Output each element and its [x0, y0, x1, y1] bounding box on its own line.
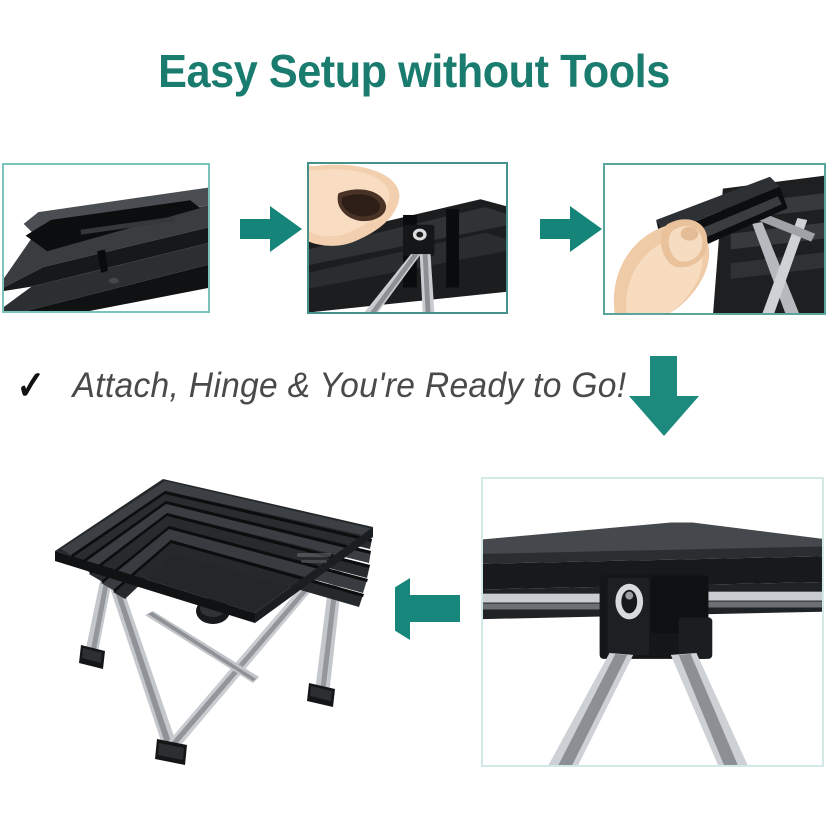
- infographic-root: Easy Setup without Tools: [0, 0, 828, 820]
- arrow-right-step1-to-step2: [240, 206, 302, 252]
- step-1-photo-panel: [2, 163, 210, 313]
- hinge-panel-image: [605, 165, 824, 314]
- attach-frame-image: [309, 164, 506, 313]
- arrow-stem: [540, 219, 574, 239]
- arrow-head: [570, 206, 602, 252]
- arrow-head: [629, 396, 699, 436]
- arrow-head: [270, 206, 302, 252]
- tagline-text: Attach, Hinge & You're Ready to Go!: [72, 366, 626, 406]
- folded-tabletop-image: [4, 165, 208, 312]
- step-3-photo-panel: [603, 163, 826, 315]
- arrow-down-step3-to-step4: [629, 356, 699, 436]
- step-2-photo-panel: [307, 162, 508, 314]
- tagline-row: ✓ Attach, Hinge & You're Ready to Go!: [14, 366, 637, 406]
- step-5-finished-table-illustration: [45, 445, 395, 775]
- arrow-stem: [404, 595, 460, 622]
- checkmark-icon: ✓: [17, 366, 45, 406]
- hinge-closeup-image: [483, 479, 822, 766]
- arrow-stem: [240, 219, 274, 239]
- assembled-table-image: [45, 445, 395, 775]
- step-4-photo-panel: [481, 477, 824, 767]
- arrow-right-step2-to-step3: [540, 206, 602, 252]
- page-title: Easy Setup without Tools: [25, 44, 803, 98]
- arrow-stem: [650, 356, 677, 400]
